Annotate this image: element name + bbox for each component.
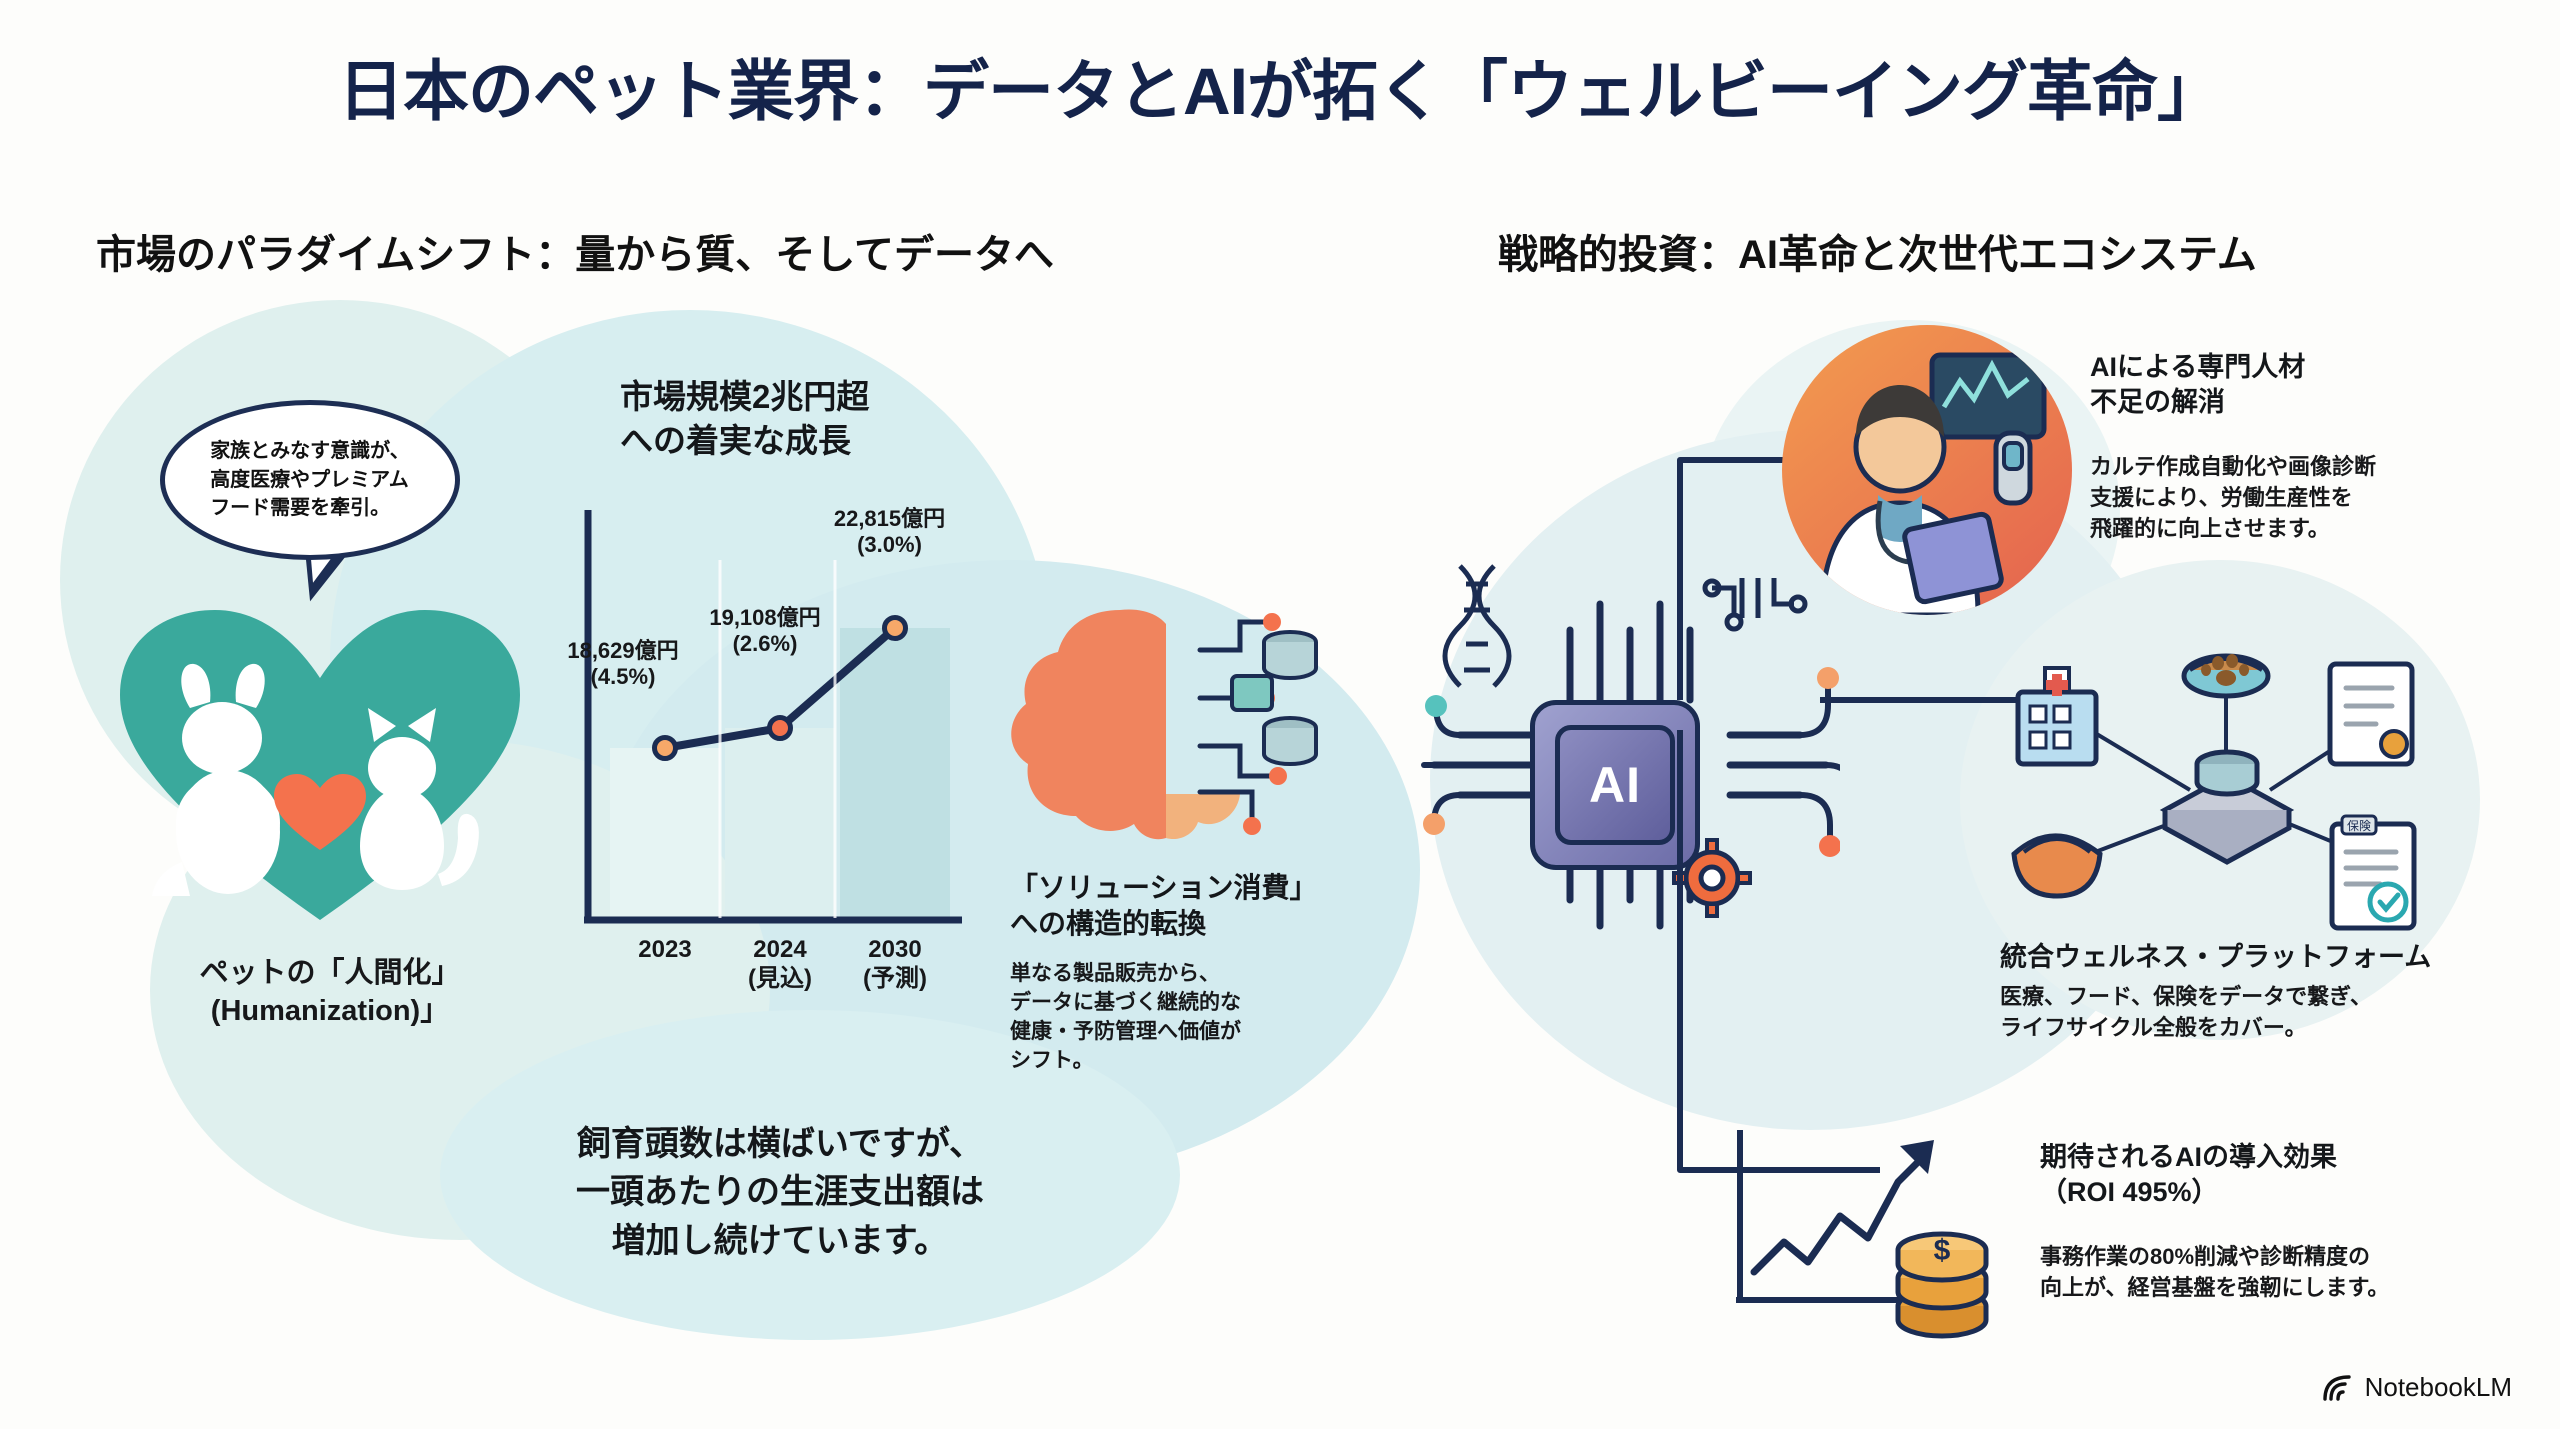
speech-bubble: 家族とみなす意識が、 高度医療やプレミアム フード需要を牽引。: [160, 400, 460, 560]
chart-xtick-2030: 2030 (予測): [835, 935, 955, 994]
coin-stack-icon: $: [1898, 1234, 1986, 1336]
card-roi-heading: 期待されるAIの導入効果 （ROI 495%）: [2040, 1140, 2337, 1210]
chart-title: 市場規模2兆円超 への着実な成長: [620, 375, 869, 462]
circuit-node-1: [1263, 613, 1281, 631]
card-platform-heading: 統合ウェルネス・プラットフォーム: [2000, 940, 2431, 975]
chart-xtick-2024: 2024 (見込): [720, 935, 840, 994]
brain-body: 単なる製品販売から、 データに基づく継続的な 健康・予防管理へ価値が シフト。: [1010, 960, 1241, 1076]
tablet-device: [1903, 513, 2003, 603]
notebooklm-logo-icon: [2321, 1373, 2355, 1403]
brain-left-lobe: [1011, 610, 1166, 840]
certificate-icon: [2330, 664, 2412, 764]
card-ai-staffing-heading: AIによる専門人材 不足の解消: [2090, 350, 2305, 420]
section-header-right: 戦略的投資：AI革命と次世代エコシステム: [1498, 222, 2257, 280]
hospital-icon: [2018, 668, 2096, 764]
card-roi-body: 事務作業の80%削減や診断精度の 向上が、経営基盤を強靭にします。: [2040, 1242, 2389, 1304]
chart-point-2030: [882, 615, 908, 641]
chip-block-icon: [1232, 676, 1272, 710]
chart-bar-2030: [840, 628, 950, 920]
circuit-traces: [1200, 622, 1270, 818]
chart-xtick-2023: 2023: [605, 935, 725, 964]
left-bottom-paragraph: 飼育頭数は横ばいですが、 一頭あたりの生涯支出額は 増加し続けています。: [500, 1120, 1060, 1265]
chart-bar-2024: [725, 728, 835, 920]
market-size-chart: 18,629億円 (4.5%) 19,108億円 (2.6%) 22,815億円…: [570, 500, 970, 980]
speech-bubble-text: 家族とみなす意識が、 高度医療やプレミアム フード需要を牽引。: [210, 437, 410, 522]
veterinarian-ai-illustration: [1782, 325, 2072, 615]
circuit-node-4: [1243, 817, 1261, 835]
brain-heading: 「ソリューション消費」 への構造的転換: [1010, 870, 1317, 943]
card-ai-staffing-body: カルテ作成自動化や画像診断 支援により、労働生産性を 飛躍的に向上させます。: [2090, 452, 2376, 544]
handheld-scanner-icon: [1996, 433, 2030, 503]
wellness-platform-illustration: 保険: [1990, 640, 2450, 940]
roi-growth-illustration: $: [1720, 1120, 2020, 1340]
node-teal-2: [1425, 695, 1447, 717]
notebooklm-label: NotebookLM: [2365, 1372, 2512, 1403]
chart-point-2024: [767, 715, 793, 741]
data-hub-icon: [2165, 752, 2289, 862]
section-header-left: 市場のパラダイムシフト：量から質、そしてデータへ: [96, 222, 1054, 280]
dna-helix-icon: [1445, 566, 1509, 686]
chart-label-2030: 22,815億円 (3.0%): [792, 506, 987, 559]
pet-food-bowl-icon: [2184, 654, 2268, 696]
pets-heart-illustration: [110, 600, 530, 930]
insurance-tag-label: 保険: [2347, 819, 2371, 833]
dollar-sign-icon: $: [1934, 1234, 1951, 1267]
chart-bar-2023: [610, 748, 720, 920]
notebooklm-watermark: NotebookLM: [2321, 1372, 2512, 1403]
page-title: 日本のペット業界：データとAIが拓く「ウェルビーイング革命」: [0, 38, 2560, 134]
insurance-icon: 保険: [2332, 816, 2414, 928]
circuit-node-3: [1269, 767, 1287, 785]
brain-right-lobe: [1166, 624, 1240, 839]
chart-label-2024: 19,108億円 (2.6%): [670, 605, 860, 658]
card-platform-body: 医療、フード、保険をデータで繋ぎ、 ライフサイクル全般をカバー。: [2000, 982, 2372, 1044]
heart-caption: ペットの「人間化」 (Humanization)」: [120, 955, 540, 1030]
brain-data-illustration: [1000, 580, 1330, 870]
roi-arrow-head: [1900, 1140, 1934, 1174]
chart-point-2023: [652, 735, 678, 761]
check-badge-icon: [2370, 884, 2406, 920]
food-bowl-icon: [2014, 836, 2100, 896]
node-orange-3: [1423, 813, 1445, 835]
